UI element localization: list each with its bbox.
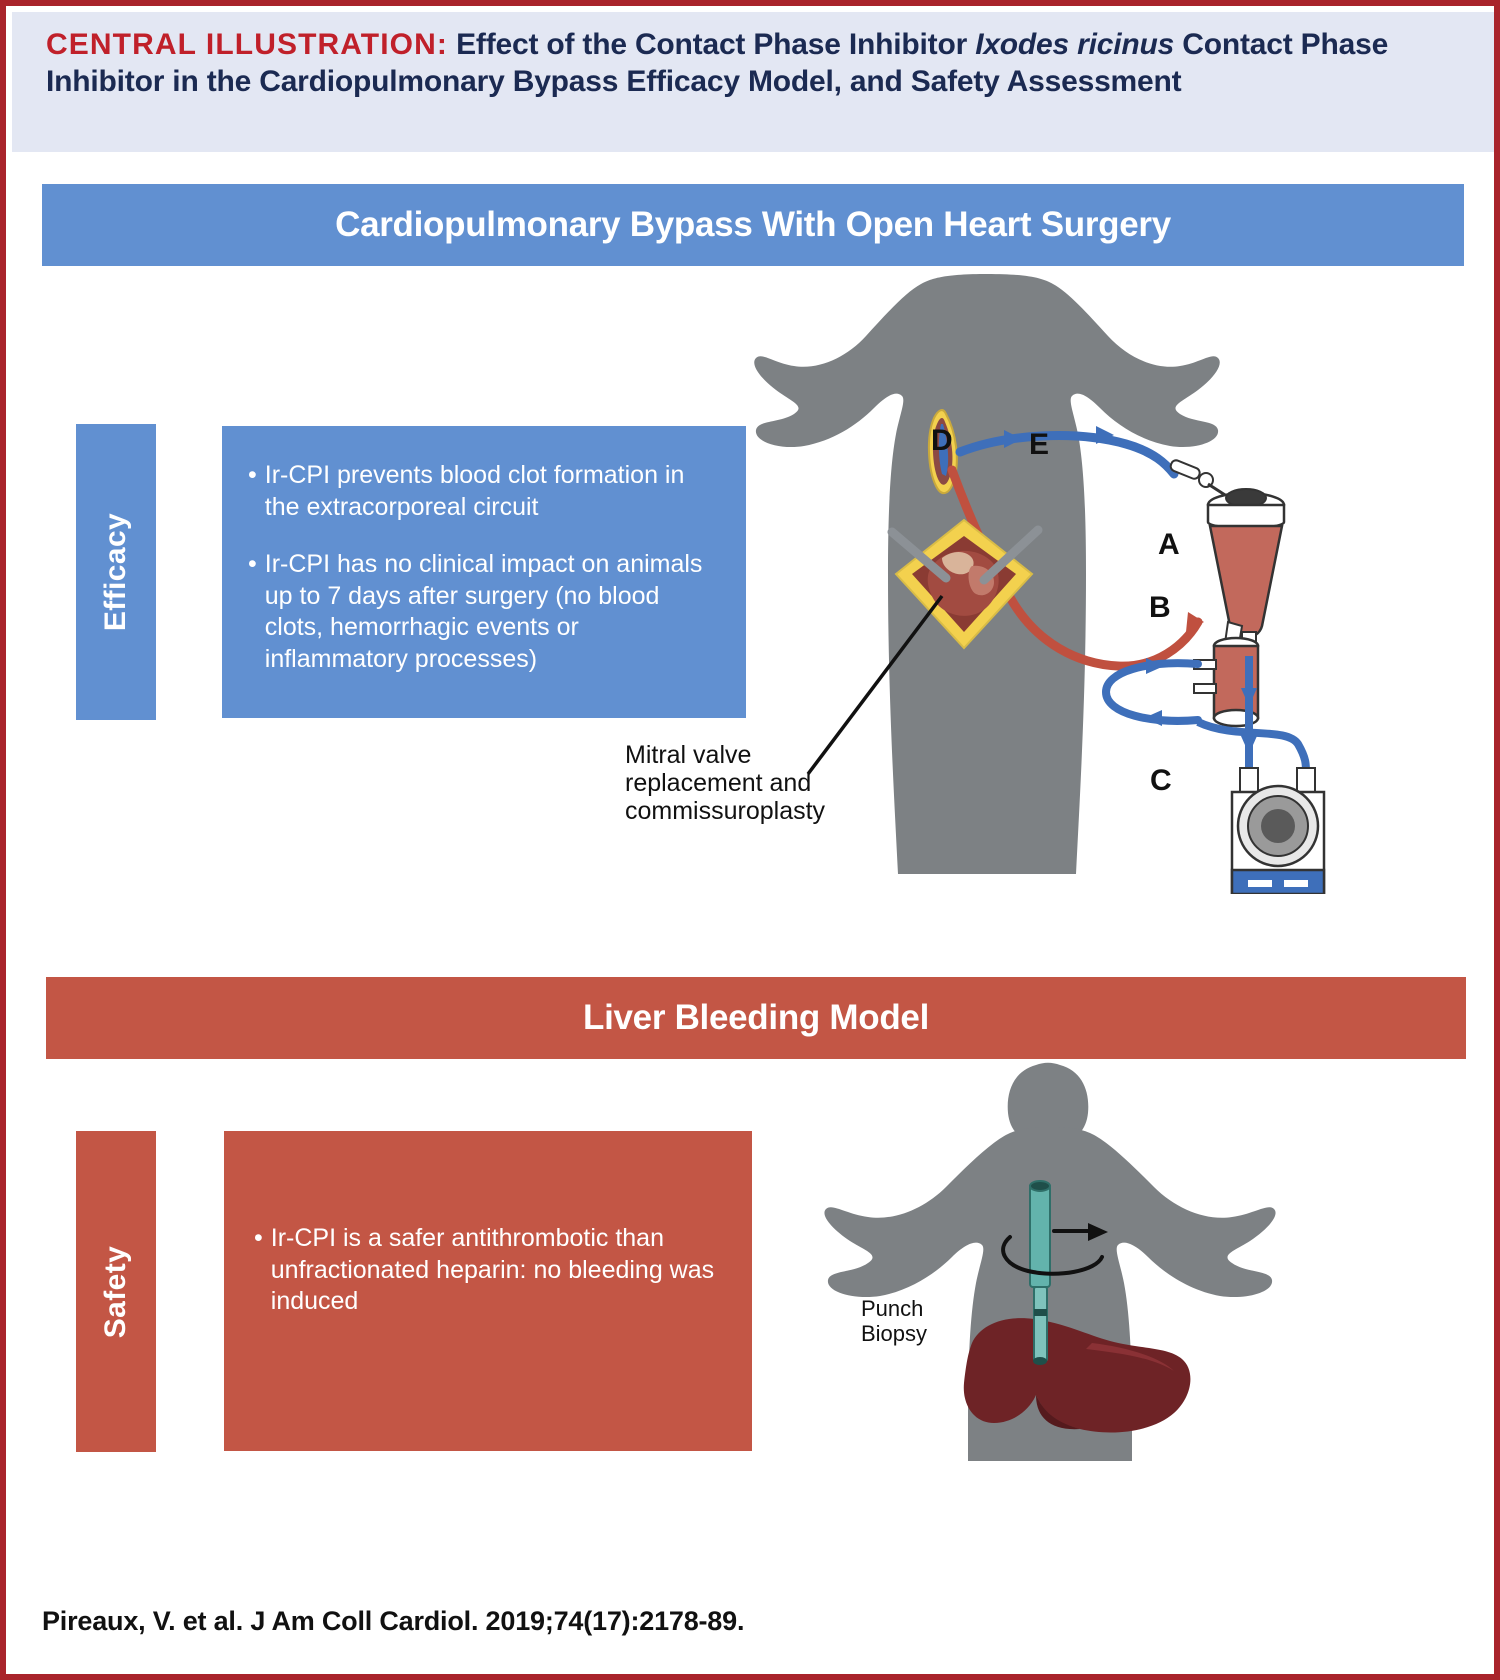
efficacy-side-tab: Efficacy — [76, 424, 156, 720]
pump-inlet-fitting — [1240, 768, 1258, 794]
bullet-dot-icon: • — [248, 549, 257, 675]
list-item: • Ir-CPI prevents blood clot formation i… — [248, 460, 720, 523]
safety-bullet-box: • Ir-CPI is a safer antithrombotic than … — [224, 1131, 752, 1451]
list-item: • Ir-CPI is a safer antithrombotic than … — [254, 1223, 726, 1318]
marker-e: E — [1029, 428, 1049, 462]
console-readout-right — [1284, 880, 1308, 887]
liver-diagram-svg — [796, 1061, 1406, 1461]
reservoir-collar — [1208, 505, 1284, 528]
liver-shape — [964, 1318, 1191, 1432]
citation: Pireaux, V. et al. J Am Coll Cardiol. 20… — [42, 1606, 744, 1637]
liver-section-banner: Liver Bleeding Model — [46, 977, 1466, 1059]
pump-outlet-fitting — [1297, 768, 1315, 794]
roller-pump-console-c — [1232, 786, 1324, 894]
cpb-section-banner: Cardiopulmonary Bypass With Open Heart S… — [42, 184, 1464, 266]
pump-rotor — [1261, 809, 1295, 843]
water-circuit-loop — [1106, 663, 1198, 721]
hx-outlet — [1194, 684, 1216, 693]
bullet-dot-icon: • — [254, 1223, 263, 1318]
page-title: CENTRAL ILLUSTRATION: Effect of the Cont… — [46, 26, 1466, 100]
liver-banner-title: Liver Bleeding Model — [583, 998, 929, 1038]
liver-diagram — [796, 1061, 1406, 1461]
marker-d: D — [931, 424, 953, 458]
efficacy-bullet-box: • Ir-CPI prevents blood clot formation i… — [222, 426, 746, 718]
efficacy-bullet-2: Ir-CPI has no clinical impact on animals… — [265, 549, 720, 675]
title-species-italic: Ixodes ricinus — [975, 28, 1174, 61]
punch-biopsy-callout-line1: Punch — [861, 1296, 971, 1321]
punch-shaft — [1034, 1287, 1047, 1361]
punch-top-cap — [1030, 1181, 1050, 1191]
efficacy-bullet-1: Ir-CPI prevents blood clot formation in … — [265, 460, 720, 523]
punch-biopsy-callout: Punch Biopsy — [861, 1296, 971, 1346]
punch-biopsy-callout-line2: Biopsy — [861, 1321, 971, 1346]
list-item: • Ir-CPI has no clinical impact on anima… — [248, 549, 720, 675]
central-illustration-figure: CENTRAL ILLUSTRATION: Effect of the Cont… — [0, 0, 1500, 1680]
punch-depth-mark — [1034, 1309, 1047, 1316]
marker-c: C — [1150, 764, 1172, 798]
safety-bullet-1: Ir-CPI is a safer antithrombotic than un… — [271, 1223, 726, 1318]
liver-organ — [964, 1318, 1191, 1432]
console-display-panel — [1232, 870, 1324, 894]
cpb-banner-title: Cardiopulmonary Bypass With Open Heart S… — [335, 205, 1171, 245]
marker-a: A — [1158, 528, 1180, 562]
punch-tip — [1033, 1357, 1047, 1365]
central-illustration-label: CENTRAL ILLUSTRATION: — [46, 28, 448, 61]
marker-b: B — [1149, 591, 1171, 625]
console-readout-left — [1248, 880, 1272, 887]
bullet-dot-icon: • — [248, 460, 257, 523]
safety-side-tab: Safety — [76, 1131, 156, 1452]
title-segment-1: Effect of the Contact Phase Inhibitor — [448, 28, 975, 61]
oxygenator-reservoir-a — [1208, 489, 1284, 656]
tubing-arrow-down-2-icon — [1241, 736, 1257, 754]
safety-side-label: Safety — [99, 1245, 133, 1337]
efficacy-side-label: Efficacy — [99, 513, 133, 631]
water-flow-arrow-2-icon — [1144, 710, 1162, 726]
mitral-valve-callout: Mitral valve replacement and commissurop… — [625, 741, 875, 825]
figure-header: CENTRAL ILLUSTRATION: Effect of the Cont… — [12, 12, 1500, 152]
reservoir-body — [1210, 526, 1282, 638]
